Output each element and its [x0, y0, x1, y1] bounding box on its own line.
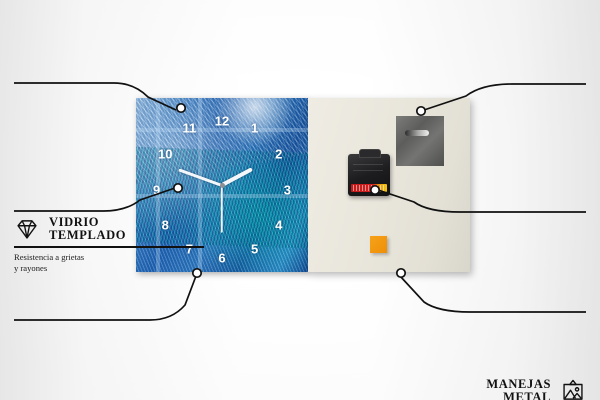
feature-title: VIDRIO TEMPLADO: [49, 216, 126, 242]
clock-number-11: 11: [182, 122, 196, 135]
diamond-icon: [14, 216, 40, 242]
clock-number-12: 12: [215, 114, 229, 127]
clock-mechanism-module: [348, 154, 390, 196]
hour-hand: [221, 167, 253, 186]
clock-center-pin: [220, 183, 225, 188]
feature-vidrio-templado[interactable]: VIDRIO TEMPLADO Resistencia a grietas y …: [14, 216, 229, 274]
clock-number-5: 5: [251, 243, 258, 256]
connector-espaciador: [400, 276, 586, 312]
mechanism-label-stripe: [351, 184, 387, 192]
clock-number-4: 4: [275, 219, 282, 232]
mechanism-tab: [359, 149, 381, 158]
infographic-canvas: 12 1 2 3 4 5 6 7 8 9 10 11: [0, 0, 600, 400]
clock-number-9: 9: [153, 184, 160, 197]
metal-hanger-plate: [396, 116, 444, 166]
foam-spacer-pad: [370, 236, 387, 253]
clock-number-3: 3: [284, 184, 291, 197]
feature-title: MANEJAS METAL: [486, 378, 551, 400]
clock-number-10: 10: [158, 147, 172, 160]
feature-description: Resistencia a grietas y rayones: [14, 252, 229, 274]
feature-manejas-metal[interactable]: MANEJAS METAL Permiten una fácil instala…: [371, 378, 586, 400]
connector-bordes: [14, 276, 196, 320]
feature-header: VIDRIO TEMPLADO: [14, 216, 229, 242]
picture-frame-hanger-icon: [560, 378, 586, 400]
feature-rule: [14, 246, 204, 248]
clock-back-panel: [308, 98, 470, 272]
feature-header: MANEJAS METAL: [371, 378, 586, 400]
clock-number-1: 1: [251, 122, 258, 135]
mechanism-detail-line: [353, 164, 383, 165]
minute-hand: [178, 168, 222, 187]
mechanism-detail-line: [353, 170, 383, 171]
hanger-slot: [405, 130, 429, 136]
clock-number-2: 2: [275, 147, 282, 160]
